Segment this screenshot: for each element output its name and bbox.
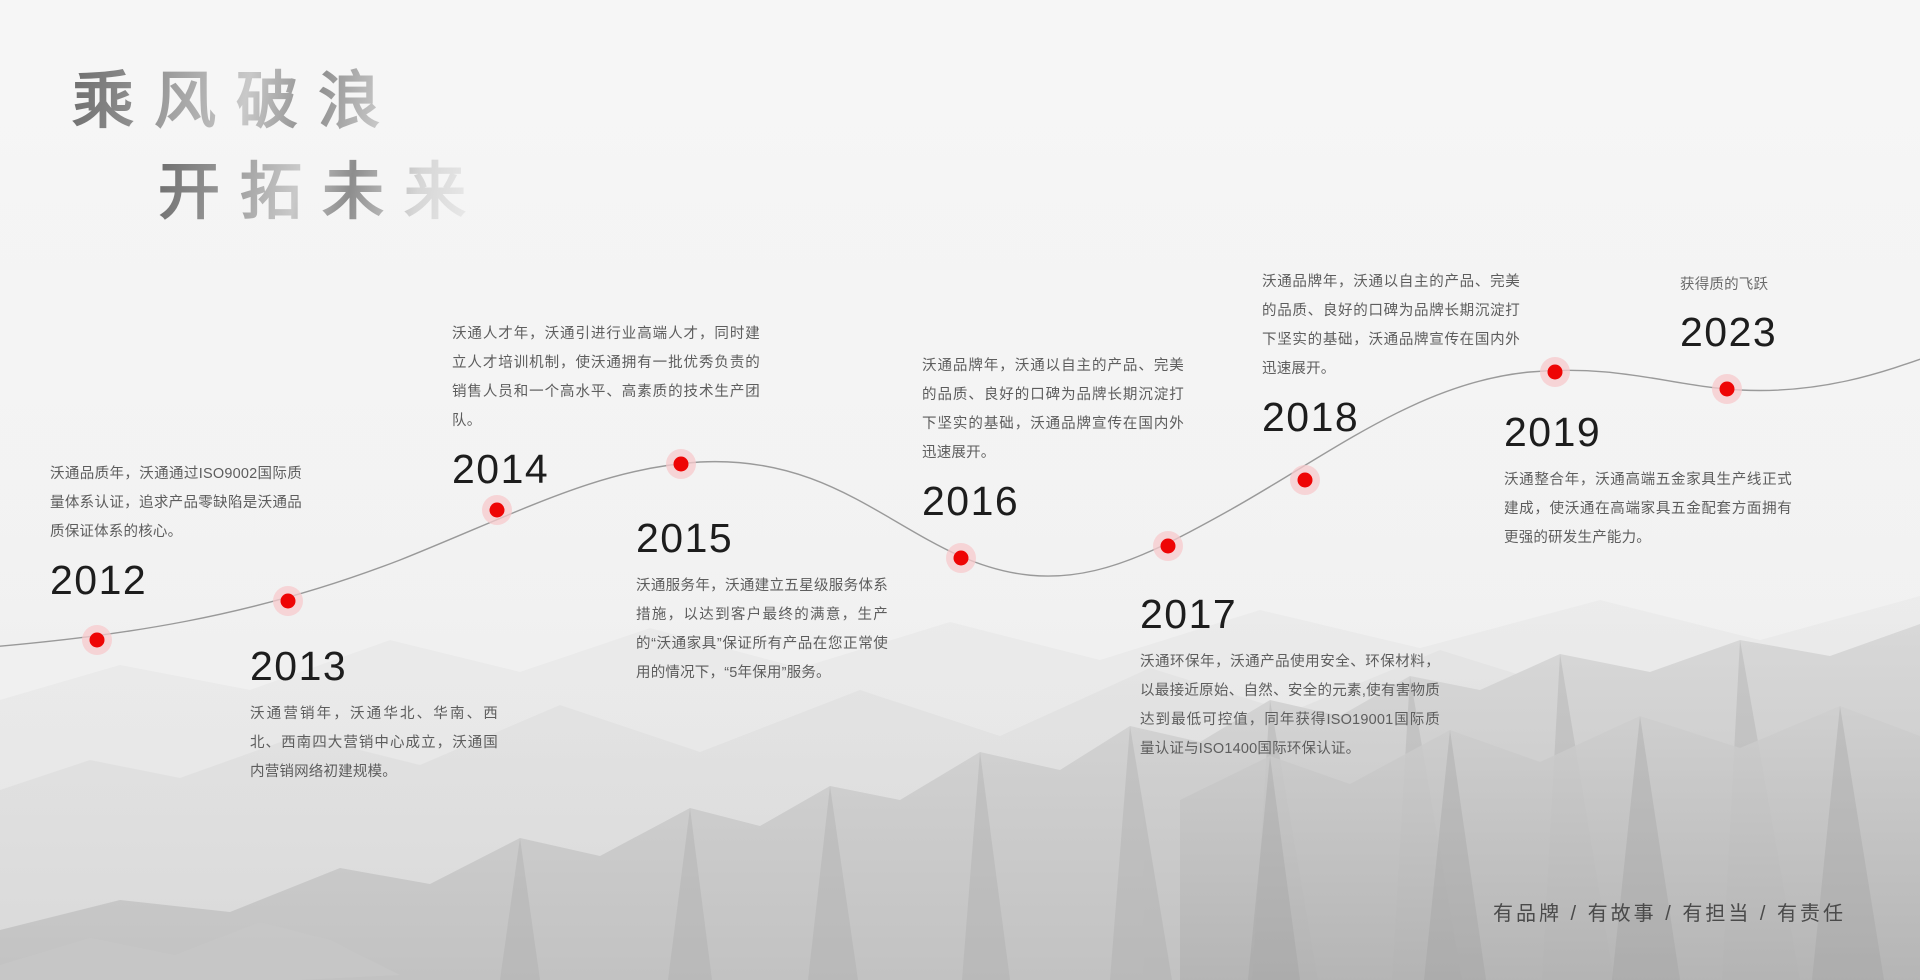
milestone-2013[interactable]: 2013 沃通营销年，沃通华北、华南、西北、西南四大营销中心成立，沃通国内营销网…	[250, 646, 498, 787]
milestone-2015-year: 2015	[636, 518, 888, 559]
timeline-dot-2019[interactable]	[1540, 357, 1570, 387]
timeline-dot-2016[interactable]	[946, 543, 976, 573]
milestone-2017[interactable]: 2017 沃通环保年，沃通产品使用安全、环保材料，以最接近原始、自然、安全的元素…	[1140, 594, 1440, 764]
milestone-2023-lead: 获得质的飞跃	[1680, 272, 1880, 300]
milestone-2023[interactable]: 获得质的飞跃 2023	[1680, 272, 1880, 353]
milestone-2018-year: 2018	[1262, 397, 1520, 438]
milestone-2016-year: 2016	[922, 481, 1184, 522]
timeline-dot-2017[interactable]	[1153, 531, 1183, 561]
milestone-2013-year: 2013	[250, 646, 498, 687]
milestone-2017-year: 2017	[1140, 594, 1440, 635]
milestone-2017-description: 沃通环保年，沃通产品使用安全、环保材料，以最接近原始、自然、安全的元素,使有害物…	[1140, 648, 1440, 764]
milestone-2019[interactable]: 2019 沃通整合年，沃通高端五金家具生产线正式建成，使沃通在高端家具五金配套方…	[1504, 412, 1792, 553]
milestone-2013-description: 沃通营销年，沃通华北、华南、西北、西南四大营销中心成立，沃通国内营销网络初建规模…	[250, 700, 498, 787]
timeline-dot-2014[interactable]	[482, 495, 512, 525]
timeline-dot-2012[interactable]	[82, 625, 112, 655]
milestone-2019-description: 沃通整合年，沃通高端五金家具生产线正式建成，使沃通在高端家具五金配套方面拥有更强…	[1504, 466, 1792, 553]
milestone-2023-year: 2023	[1680, 312, 1880, 353]
title-line-primary: 乘风破浪	[72, 66, 486, 139]
milestone-2012[interactable]: 沃通品质年，沃通通过ISO9002国际质量体系认证，追求产品零缺陷是沃通品质保证…	[50, 460, 302, 601]
milestone-2016[interactable]: 沃通品牌年，沃通以自主的产品、完美的品质、良好的口碑为品牌长期沉淀打下坚实的基础…	[922, 352, 1184, 522]
milestone-2012-description: 沃通品质年，沃通通过ISO9002国际质量体系认证，追求产品零缺陷是沃通品质保证…	[50, 460, 302, 547]
milestone-2014-year: 2014	[452, 449, 760, 490]
milestone-2015-description: 沃通服务年，沃通建立五星级服务体系措施，以达到客户最终的满意，生产的“沃通家具”…	[636, 572, 888, 688]
milestone-2018-description: 沃通品牌年，沃通以自主的产品、完美的品质、良好的口碑为品牌长期沉淀打下坚实的基础…	[1262, 268, 1520, 384]
timeline-infographic: 乘风破浪 开拓未来 沃通品质年，沃通通过ISO9002国际质量体系认证，追求产品…	[0, 0, 1920, 980]
milestone-2014[interactable]: 沃通人才年，沃通引进行业高端人才，同时建立人才培训机制，使沃通拥有一批优秀负责的…	[452, 320, 760, 490]
page-title: 乘风破浪 开拓未来	[72, 66, 486, 230]
milestone-2019-year: 2019	[1504, 412, 1792, 453]
timeline-dot-2023[interactable]	[1712, 374, 1742, 404]
timeline-dot-2018[interactable]	[1290, 465, 1320, 495]
milestone-2018[interactable]: 沃通品牌年，沃通以自主的产品、完美的品质、良好的口碑为品牌长期沉淀打下坚实的基础…	[1262, 268, 1520, 438]
milestone-2016-description: 沃通品牌年，沃通以自主的产品、完美的品质、良好的口碑为品牌长期沉淀打下坚实的基础…	[922, 352, 1184, 468]
title-line-secondary: 开拓未来	[158, 157, 486, 230]
milestone-2014-description: 沃通人才年，沃通引进行业高端人才，同时建立人才培训机制，使沃通拥有一批优秀负责的…	[452, 320, 760, 436]
milestone-2012-year: 2012	[50, 560, 302, 601]
footer-tagline: 有品牌 / 有故事 / 有担当 / 有责任	[1493, 897, 1846, 926]
milestone-2015[interactable]: 2015 沃通服务年，沃通建立五星级服务体系措施，以达到客户最终的满意，生产的“…	[636, 518, 888, 688]
